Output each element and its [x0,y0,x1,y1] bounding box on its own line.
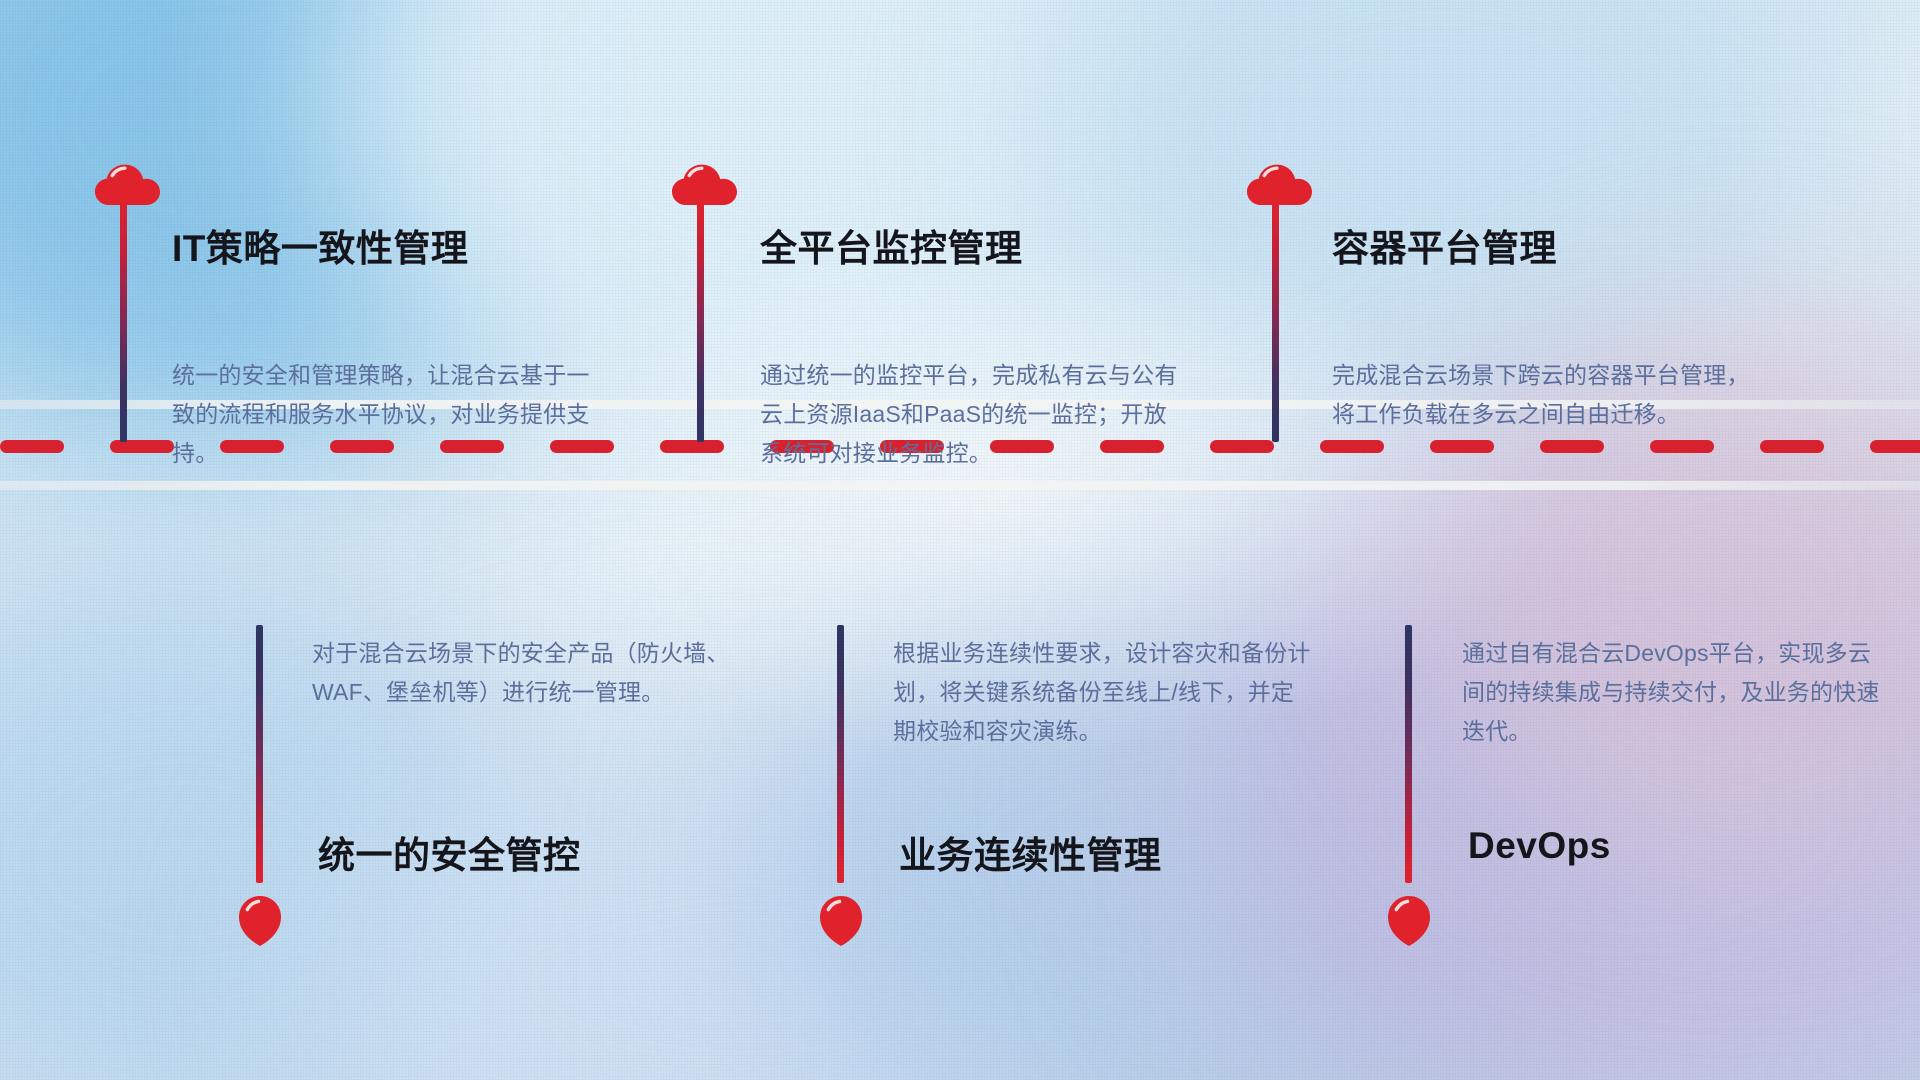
road-edge-bottom [0,481,1920,490]
connector-stem [120,200,127,442]
road-dash [1650,440,1714,453]
road-dash [1320,440,1384,453]
bottom-item-2-body: 根据业务连续性要求，设计容灾和备份计划，将关键系统备份至线上/线下，并定期校验和… [893,634,1313,751]
cloud-pin-icon [1378,890,1440,952]
cloud-icon [670,160,738,206]
road-dash [1540,440,1604,453]
bottom-item-2-title: 业务连续性管理 [899,825,1162,879]
connector-stem [837,625,844,883]
road-dash [1430,440,1494,453]
road-dash [1760,440,1824,453]
top-item-2-title: 全平台监控管理 [760,218,1023,272]
road-dash [660,440,724,453]
top-item-3-title: 容器平台管理 [1332,218,1557,272]
connector-stem [256,625,263,883]
bottom-item-1-body: 对于混合云场景下的安全产品（防火墙、WAF、堡垒机等）进行统一管理。 [312,634,732,712]
road-dash [1210,440,1274,453]
bottom-item-3-body: 通过自有混合云DevOps平台，实现多云间的持续集成与持续交付，及业务的快速迭代… [1462,634,1882,751]
road-dash [1870,440,1920,453]
connector-stem [1272,200,1279,442]
cloud-pin-icon [810,890,872,952]
road-dash [0,440,64,453]
top-item-1-body: 统一的安全和管理策略，让混合云基于一致的流程和服务水平协议，对业务提供支持。 [172,356,592,473]
cloud-icon [93,160,161,206]
top-item-3-body: 完成混合云场景下跨云的容器平台管理，将工作负载在多云之间自由迁移。 [1332,356,1752,434]
infographic-canvas: IT策略一致性管理 统一的安全和管理策略，让混合云基于一致的流程和服务水平协议，… [0,0,1920,1080]
top-item-2-body: 通过统一的监控平台，完成私有云与公有云上资源IaaS和PaaS的统一监控；开放系… [760,356,1180,473]
top-item-1-title: IT策略一致性管理 [172,218,468,272]
road-dash [110,440,174,453]
cloud-pin-icon [229,890,291,952]
cloud-icon [1245,160,1313,206]
bottom-item-1-title: 统一的安全管控 [318,825,581,879]
connector-stem [1405,625,1412,883]
connector-stem [697,200,704,442]
bottom-item-3-title: DevOps [1468,825,1611,867]
